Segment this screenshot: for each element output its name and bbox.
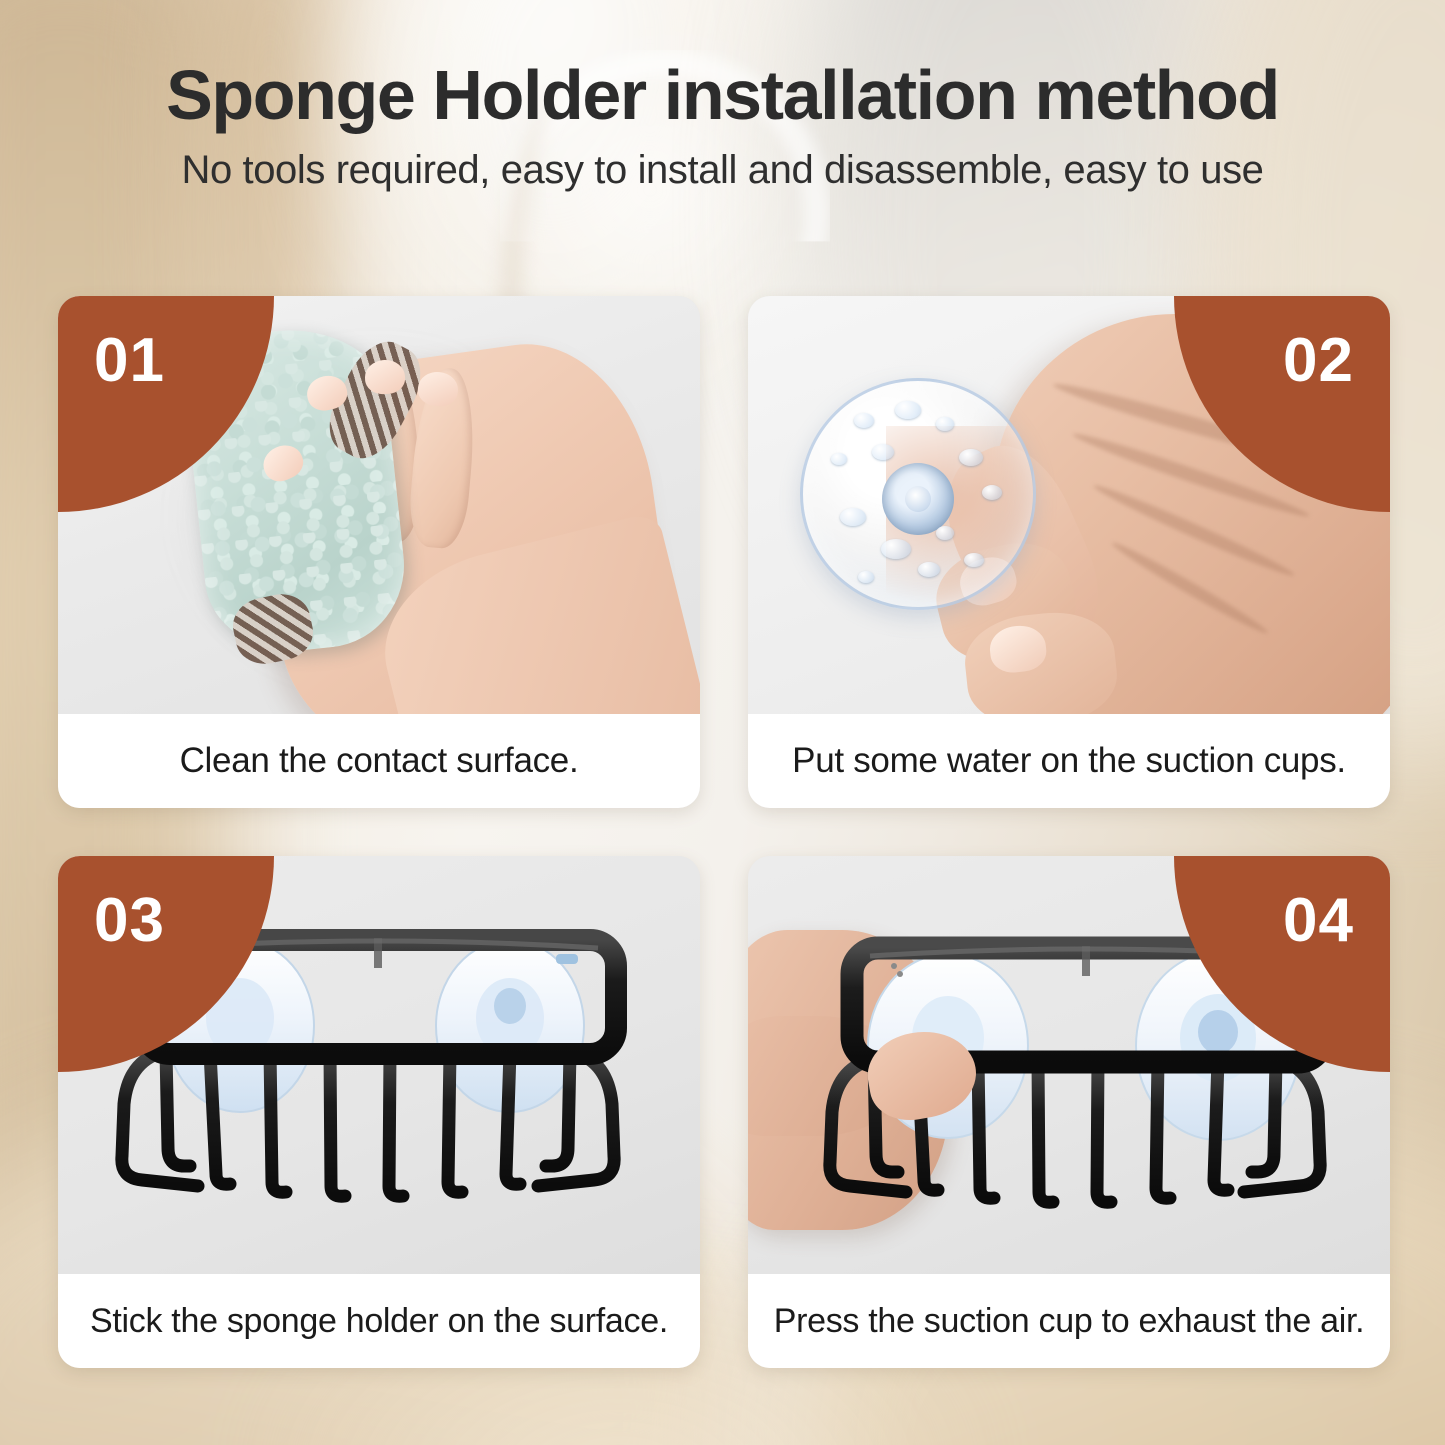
step-image-02: 02 bbox=[748, 296, 1390, 714]
step-caption-text: Stick the sponge holder on the surface. bbox=[90, 1302, 668, 1341]
step-card-02: 02 Put some water on the suction cups. bbox=[748, 296, 1390, 808]
step-card-01: 01 Clean the contact surface. bbox=[58, 296, 700, 808]
water-droplet-icon bbox=[936, 526, 954, 540]
water-droplet-icon bbox=[854, 413, 874, 428]
water-droplet-icon bbox=[831, 453, 847, 465]
fingernail bbox=[364, 359, 405, 394]
water-droplet-icon bbox=[959, 449, 983, 466]
step-caption-text: Press the suction cup to exhaust the air… bbox=[774, 1302, 1365, 1341]
step-caption-03: Stick the sponge holder on the surface. bbox=[58, 1274, 700, 1368]
step-number: 01 bbox=[94, 330, 165, 392]
suction-cup-icon bbox=[800, 378, 1036, 610]
step-caption-text: Clean the contact surface. bbox=[180, 741, 579, 781]
step-caption-01: Clean the contact surface. bbox=[58, 714, 700, 808]
steps-grid: 01 Clean the contact surface. bbox=[58, 296, 1390, 1368]
step-image-01: 01 bbox=[58, 296, 700, 714]
suction-cup-nub bbox=[882, 463, 954, 535]
step-card-03: 03 Stick the sponge holder on the surfac… bbox=[58, 856, 700, 1368]
step-image-04: 04 bbox=[748, 856, 1390, 1274]
step-number: 03 bbox=[94, 890, 165, 952]
step-image-03: 03 bbox=[58, 856, 700, 1274]
page-subtitle: No tools required, easy to install and d… bbox=[0, 148, 1445, 192]
page-title: Sponge Holder installation method bbox=[0, 58, 1445, 132]
step-number: 04 bbox=[1283, 890, 1354, 952]
header-block: Sponge Holder installation method No too… bbox=[0, 58, 1445, 192]
step-number: 02 bbox=[1283, 330, 1354, 392]
water-droplet-icon bbox=[964, 553, 984, 567]
water-droplet-icon bbox=[918, 562, 940, 577]
water-droplet-icon bbox=[840, 508, 866, 526]
step-caption-04: Press the suction cup to exhaust the air… bbox=[748, 1274, 1390, 1368]
step-caption-02: Put some water on the suction cups. bbox=[748, 714, 1390, 808]
water-droplet-icon bbox=[858, 571, 874, 583]
infographic-canvas: Sponge Holder installation method No too… bbox=[0, 0, 1445, 1445]
step-caption-text: Put some water on the suction cups. bbox=[792, 741, 1346, 781]
step-card-04: 04 Press the suction cup to exhaust the … bbox=[748, 856, 1390, 1368]
water-droplet-icon bbox=[895, 401, 921, 419]
